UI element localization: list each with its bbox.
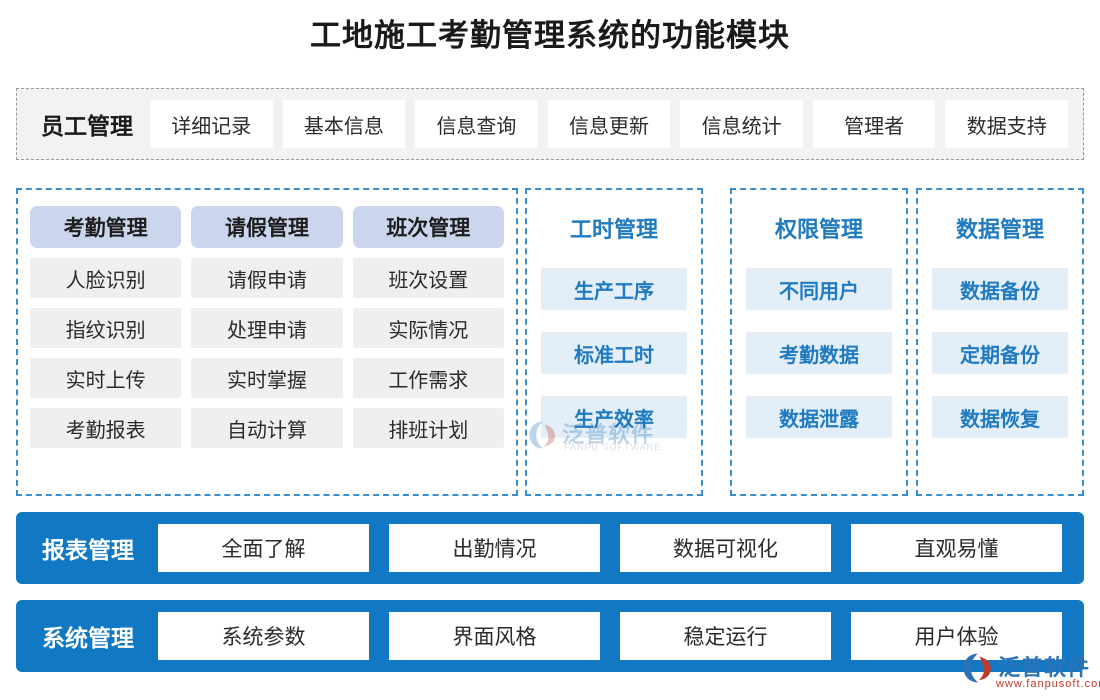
employee-chip-info-update[interactable]: 信息更新 [548, 100, 671, 148]
system-chip-stable-operation[interactable]: 稳定运行 [620, 612, 831, 660]
report-chip-intuitive[interactable]: 直观易懂 [851, 524, 1062, 572]
module-item-standard-hours[interactable]: 标准工时 [541, 332, 687, 374]
module-item-attendance-report[interactable]: 考勤报表 [30, 408, 181, 448]
system-chip-ui-style[interactable]: 界面风格 [389, 612, 600, 660]
report-chip-attendance-status[interactable]: 出勤情况 [389, 524, 600, 572]
module-head-attendance[interactable]: 考勤管理 [30, 206, 181, 248]
employee-chip-info-query[interactable]: 信息查询 [415, 100, 538, 148]
module-column-attendance: 考勤管理 人脸识别 指纹识别 实时上传 考勤报表 [30, 206, 181, 482]
system-chip-user-experience[interactable]: 用户体验 [851, 612, 1062, 660]
module-item-production-efficiency[interactable]: 生产效率 [541, 396, 687, 438]
module-group-permission: 权限管理 不同用户 考勤数据 数据泄露 [730, 188, 908, 496]
module-item-realtime-upload[interactable]: 实时上传 [30, 358, 181, 398]
module-group-data: 数据管理 数据备份 定期备份 数据恢复 [916, 188, 1084, 496]
employee-management-label: 员工管理 [27, 107, 145, 141]
module-item-realtime-tracking[interactable]: 实时掌握 [191, 358, 342, 398]
module-item-data-backup[interactable]: 数据备份 [932, 268, 1068, 310]
employee-chip-basic-info[interactable]: 基本信息 [283, 100, 406, 148]
report-chip-data-visualization[interactable]: 数据可视化 [620, 524, 831, 572]
module-head-data: 数据管理 [932, 212, 1068, 244]
module-head-permission: 权限管理 [746, 212, 892, 244]
module-item-face-recognition[interactable]: 人脸识别 [30, 258, 181, 298]
module-item-data-leakage[interactable]: 数据泄露 [746, 396, 892, 438]
module-column-shift: 班次管理 班次设置 实际情况 工作需求 排班计划 [353, 206, 504, 482]
module-item-actual-situation[interactable]: 实际情况 [353, 308, 504, 348]
module-group-attendance: 考勤管理 人脸识别 指纹识别 实时上传 考勤报表 请假管理 请假申请 处理申请 … [16, 188, 518, 496]
module-item-leave-application[interactable]: 请假申请 [191, 258, 342, 298]
module-head-leave[interactable]: 请假管理 [191, 206, 342, 248]
employee-chip-detailed-record[interactable]: 详细记录 [150, 100, 273, 148]
system-management-bar: 系统管理 系统参数 界面风格 稳定运行 用户体验 [16, 600, 1084, 672]
report-chip-full-understanding[interactable]: 全面了解 [158, 524, 369, 572]
module-item-auto-calculation[interactable]: 自动计算 [191, 408, 342, 448]
module-head-worktime: 工时管理 [541, 212, 687, 244]
employee-chip-info-statistics[interactable]: 信息统计 [680, 100, 803, 148]
employee-management-row: 员工管理 详细记录 基本信息 信息查询 信息更新 信息统计 管理者 数据支持 [16, 88, 1084, 160]
module-item-production-process[interactable]: 生产工序 [541, 268, 687, 310]
module-item-work-requirement[interactable]: 工作需求 [353, 358, 504, 398]
page-title: 工地施工考勤管理系统的功能模块 [0, 14, 1100, 58]
module-item-periodic-backup[interactable]: 定期备份 [932, 332, 1068, 374]
module-item-process-application[interactable]: 处理申请 [191, 308, 342, 348]
module-column-leave: 请假管理 请假申请 处理申请 实时掌握 自动计算 [191, 206, 342, 482]
system-management-label: 系统管理 [28, 619, 148, 653]
employee-chip-data-support[interactable]: 数据支持 [945, 100, 1068, 148]
module-item-different-users[interactable]: 不同用户 [746, 268, 892, 310]
employee-chip-administrator[interactable]: 管理者 [813, 100, 936, 148]
modules-columns-area: 考勤管理 人脸识别 指纹识别 实时上传 考勤报表 请假管理 请假申请 处理申请 … [16, 188, 1084, 496]
watermark-corner-sub: www.fanpusoft.com [996, 678, 1100, 690]
module-item-data-recovery[interactable]: 数据恢复 [932, 396, 1068, 438]
report-management-bar: 报表管理 全面了解 出勤情况 数据可视化 直观易懂 [16, 512, 1084, 584]
system-chip-system-parameters[interactable]: 系统参数 [158, 612, 369, 660]
module-group-worktime: 工时管理 生产工序 标准工时 生产效率 [525, 188, 703, 496]
module-head-shift[interactable]: 班次管理 [353, 206, 504, 248]
module-item-fingerprint[interactable]: 指纹识别 [30, 308, 181, 348]
module-item-shift-plan[interactable]: 排班计划 [353, 408, 504, 448]
module-item-attendance-data[interactable]: 考勤数据 [746, 332, 892, 374]
module-item-shift-setup[interactable]: 班次设置 [353, 258, 504, 298]
report-management-label: 报表管理 [28, 531, 148, 565]
